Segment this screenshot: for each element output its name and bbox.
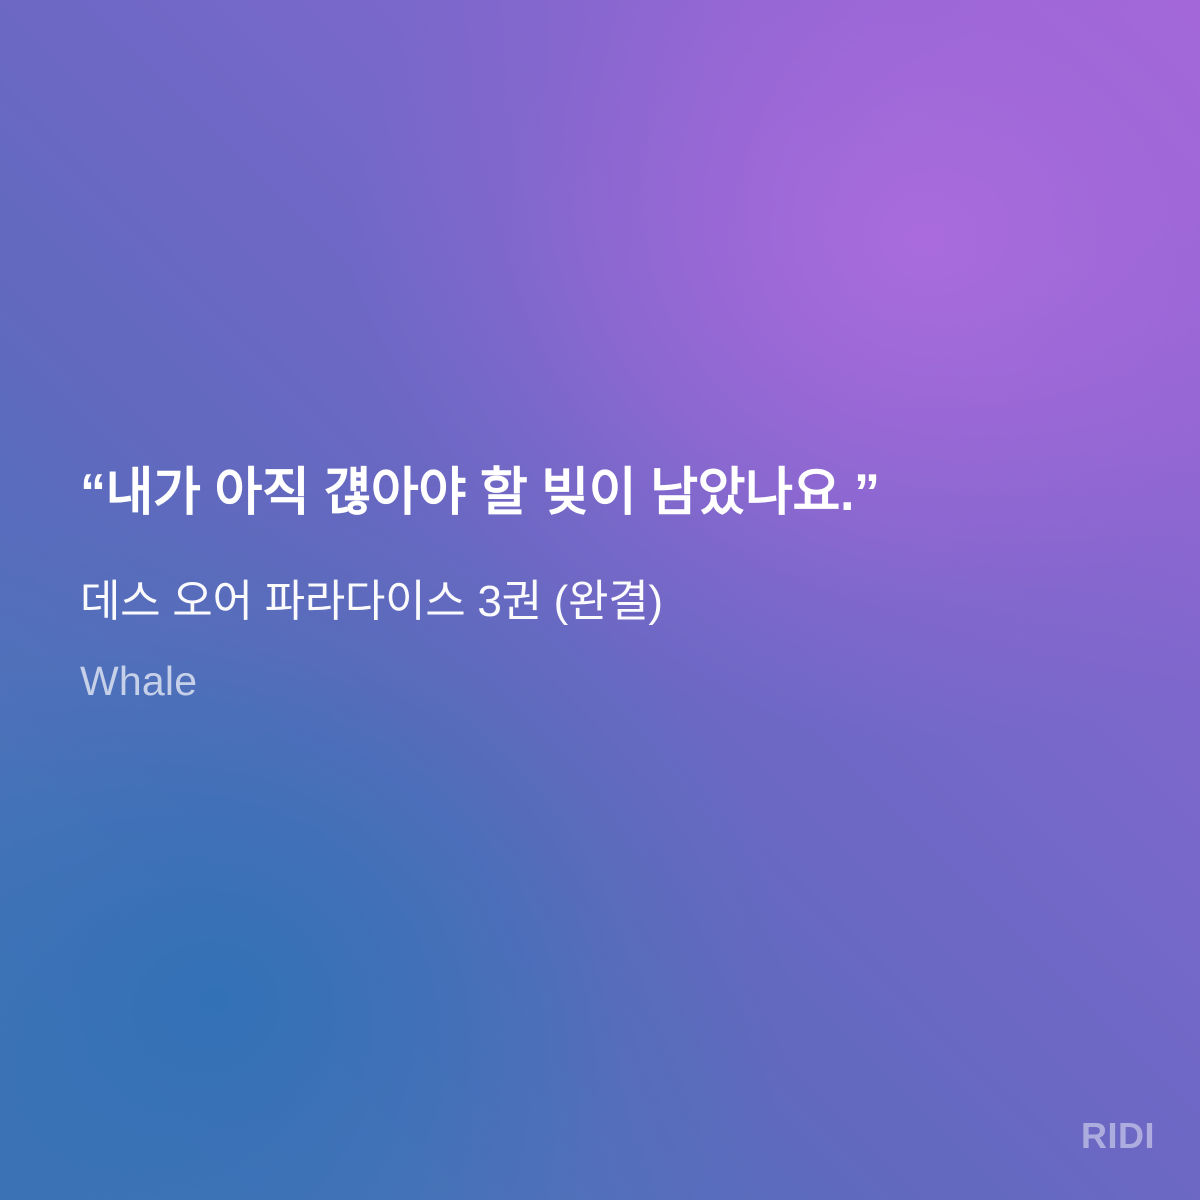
quote-card: “내가 아직 걚아야 할 빚이 남았나요.” 데스 오어 파라다이스 3권 (완…: [0, 0, 1200, 1200]
book-title: 데스 오어 파라다이스 3권 (완결): [80, 525, 1100, 629]
ridi-brand-logo: RIDI: [1081, 1118, 1155, 1154]
quote-text: “내가 아직 걚아야 할 빚이 남았나요.”: [80, 462, 1100, 525]
quote-text-block: “내가 아직 걚아야 할 빚이 남았나요.” 데스 오어 파라다이스 3권 (완…: [80, 462, 1100, 706]
author-name: Whale: [80, 629, 1100, 706]
